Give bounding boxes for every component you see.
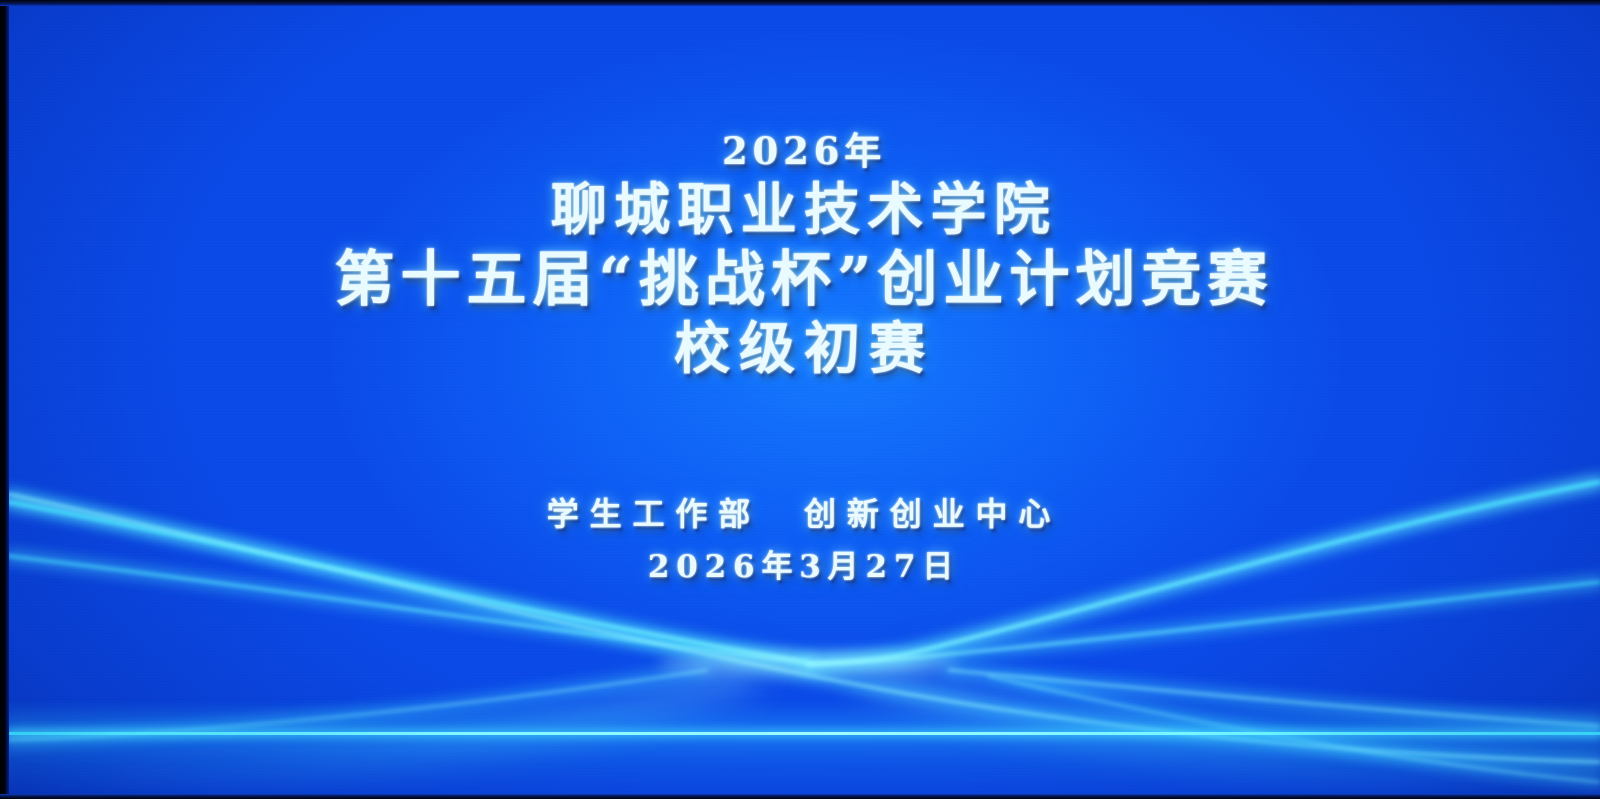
horizon-light-line — [8, 732, 1600, 735]
screen-bezel-top — [0, 0, 1600, 6]
screen-bezel-bottom — [0, 794, 1600, 799]
title-school-name: 聊城职业技术学院 — [8, 181, 1600, 240]
footer-block: 学生工作部 创新创业中心 2026年3月27日 — [8, 498, 1600, 585]
footer-date: 2026年3月27日 — [8, 551, 1600, 584]
footer-organizers: 学生工作部 创新创业中心 — [8, 498, 1600, 532]
title-stage-name: 校级初赛 — [8, 320, 1600, 379]
title-event-name: 第十五届“挑战杯”创业计划竞赛 — [8, 249, 1600, 313]
title-text-block: 2026年 聊城职业技术学院 第十五届“挑战杯”创业计划竞赛 校级初赛 学生工作… — [8, 4, 1600, 584]
title-year-line: 2026年 — [8, 132, 1600, 171]
screen-bezel-left — [0, 0, 9, 799]
slide-stage: 2026年 聊城职业技术学院 第十五届“挑战杯”创业计划竞赛 校级初赛 学生工作… — [0, 0, 1600, 799]
